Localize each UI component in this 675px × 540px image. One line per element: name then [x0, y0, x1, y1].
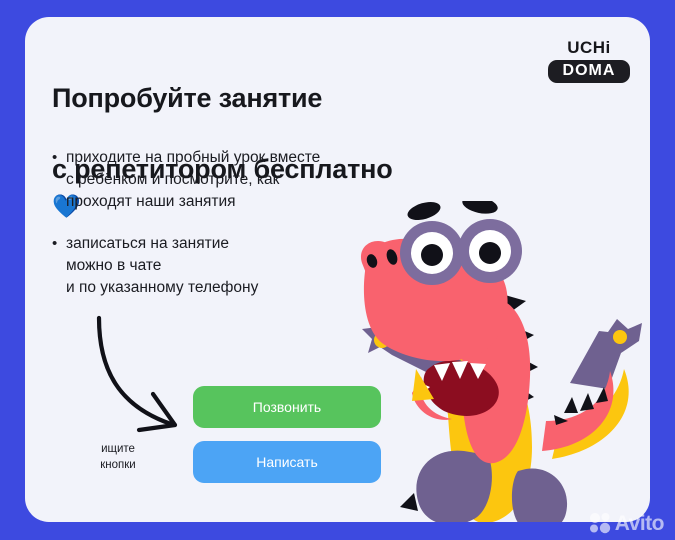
call-button[interactable]: Позвонить [193, 386, 381, 428]
promo-card: UCHi DOMA Попробуйте занятие с репетитор… [25, 17, 650, 522]
logo-word-uchi: UCHi [548, 39, 630, 56]
page-background: UCHi DOMA Попробуйте занятие с репетитор… [0, 0, 675, 540]
mascot-right-hand-dot [613, 330, 627, 344]
benefits-list: • приходите на пробный урок вместе с реб… [52, 147, 452, 319]
arrow-curve [99, 318, 171, 424]
mascot-tail-spike-1 [564, 397, 578, 413]
heading-line-1: Попробуйте занятие [52, 83, 322, 113]
mascot-eyebrow-right [461, 201, 500, 217]
mascot-eye-right-pupil [479, 242, 501, 264]
mascot-tail-spike-2 [580, 393, 594, 411]
mascot-left-leg [416, 451, 492, 522]
bullet-text: записаться на занятие можно в чате и по … [66, 233, 258, 299]
mascot-right-leg [512, 469, 567, 522]
mascot-left-claw [400, 493, 418, 511]
mascot-right-arm [570, 319, 642, 389]
bullet-marker: • [52, 147, 66, 213]
list-item: • записаться на занятие можно в чате и п… [52, 233, 452, 299]
logo-word-doma: DOMA [548, 60, 630, 83]
bullet-marker: • [52, 233, 66, 299]
bullet-text: приходите на пробный урок вместе с ребён… [66, 147, 320, 213]
write-message-button[interactable]: Написать [193, 441, 381, 483]
uchi-doma-logo[interactable]: UCHi DOMA [548, 39, 630, 83]
curved-arrow-icon [83, 312, 193, 442]
list-item: • приходите на пробный урок вместе с реб… [52, 147, 452, 213]
arrow-caption: ищите кнопки [72, 441, 164, 474]
